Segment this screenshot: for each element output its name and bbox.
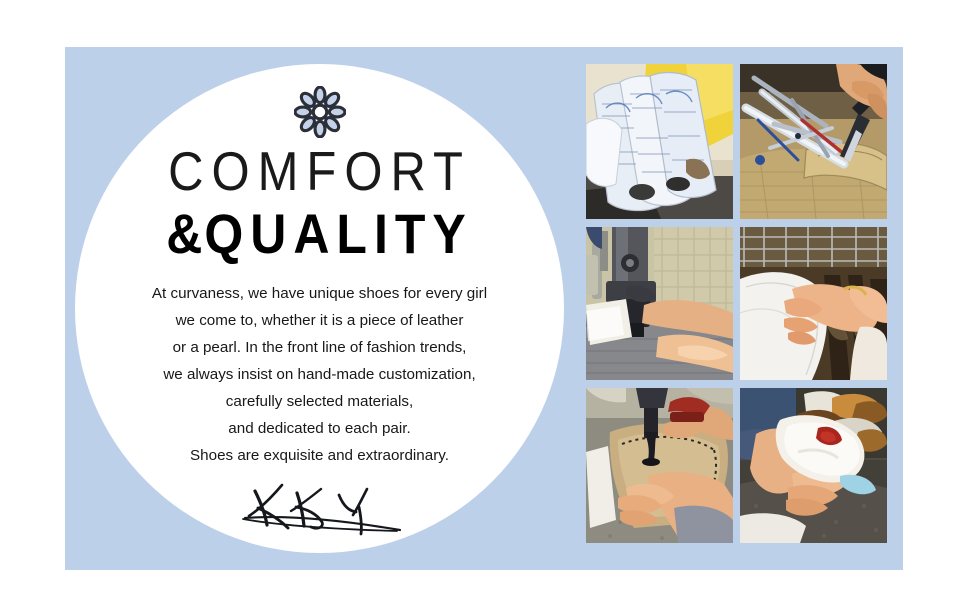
body-copy: At curvaness, we have unique shoes for e… [75,280,564,469]
workshop-photo-grid [586,64,887,551]
body-line-1: At curvaness, we have unique shoes for e… [75,280,564,307]
circle-content-area: COMFORT &QUALITY At curvaness, we have u… [75,64,564,553]
body-line-2: we come to, whether it is a piece of lea… [75,307,564,334]
photo-finishing-shoe [740,388,887,543]
headline-block: COMFORT &QUALITY [75,144,564,256]
promo-banner: COMFORT &QUALITY At curvaness, we have u… [0,0,960,610]
flower-ornament-icon [294,86,346,138]
headline-quality-word: QUALITY [204,203,472,266]
body-line-5: carefully selected materials, [75,388,564,415]
body-line-6: and dedicated to each pair. [75,415,564,442]
photo-cutting-leather [740,64,887,219]
photo-blueprints [586,64,733,219]
body-line-3: or a pearl. In the front line of fashion… [75,334,564,361]
photo-stitching-machine [586,227,733,380]
ampersand-glyph: & [166,203,204,266]
body-line-7: Shoes are exquisite and extraordinary. [75,442,564,469]
body-line-4: we always insist on hand-made customizat… [75,361,564,388]
headline-comfort: COMFORT [75,144,564,201]
headline-quality: &QUALITY [75,206,564,262]
handwritten-signature [225,481,415,539]
photo-eyelet-punching [586,388,733,543]
photo-shaping-upper [740,227,887,380]
